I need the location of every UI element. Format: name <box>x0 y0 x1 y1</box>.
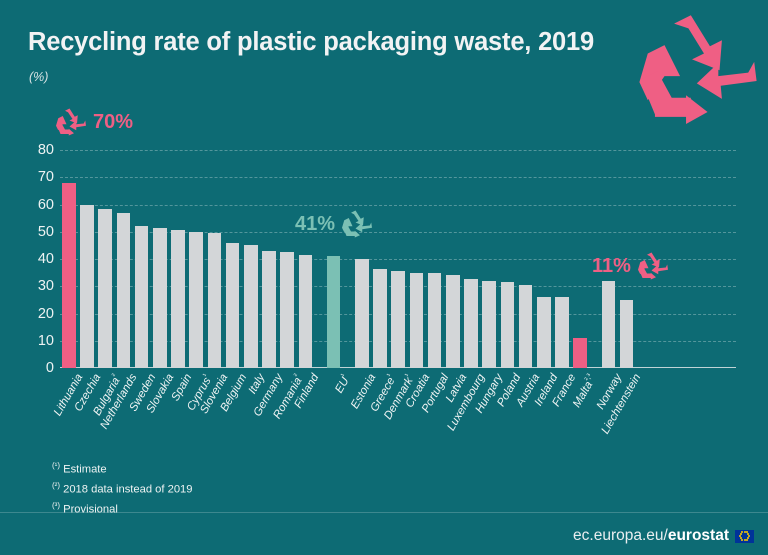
bar-slot <box>537 150 551 368</box>
bar[interactable] <box>244 245 258 368</box>
y-axis-labels: 01020304050607080 <box>10 150 54 368</box>
bar[interactable] <box>327 256 341 368</box>
bar-slot <box>501 150 515 368</box>
bar[interactable] <box>153 228 167 368</box>
bar[interactable] <box>410 273 424 368</box>
bar[interactable] <box>391 271 405 368</box>
footnote: (¹) Estimate <box>52 458 193 478</box>
url-prefix: ec.europa.eu/ <box>573 527 668 544</box>
bar-slot <box>262 150 276 368</box>
bar-slot <box>189 150 203 368</box>
bar[interactable] <box>189 232 203 368</box>
footer-divider <box>0 512 768 513</box>
bar[interactable] <box>80 205 94 369</box>
bar-slot <box>355 150 369 368</box>
bar-slot <box>244 150 258 368</box>
annotation-highest-value: 70% <box>56 108 133 136</box>
bar[interactable] <box>428 273 442 368</box>
bar-slot <box>135 150 149 368</box>
y-tick-label: 50 <box>38 224 54 240</box>
y-tick-label: 10 <box>38 333 54 349</box>
recycle-icon <box>638 252 668 280</box>
bar[interactable] <box>171 230 185 368</box>
bar[interactable] <box>135 226 149 368</box>
annotation-value: 11% <box>592 255 631 278</box>
annotation-eu-value: 41% <box>295 210 372 238</box>
y-tick-label: 20 <box>38 306 54 322</box>
bar-slot <box>519 150 533 368</box>
bar[interactable] <box>464 279 478 368</box>
footnotes: (¹) Estimate(²) 2018 data instead of 201… <box>52 458 193 519</box>
y-tick-label: 30 <box>38 278 54 294</box>
bar[interactable] <box>299 255 313 368</box>
y-tick-label: 60 <box>38 197 54 213</box>
y-tick-label: 40 <box>38 251 54 267</box>
footer-branding[interactable]: ec.europa.eu/eurostat <box>573 527 754 545</box>
x-axis-labels: LithuaniaCzechiaBulgaria²NetherlandsSwed… <box>60 368 752 460</box>
unit-label: (%) <box>29 70 48 84</box>
bar[interactable] <box>602 281 616 368</box>
footnote: (²) 2018 data instead of 2019 <box>52 478 193 498</box>
bar[interactable] <box>519 285 533 368</box>
bar[interactable] <box>446 275 460 368</box>
y-tick-label: 0 <box>46 360 54 376</box>
bar[interactable] <box>482 281 496 368</box>
bar[interactable] <box>208 233 222 368</box>
bar[interactable] <box>501 282 515 368</box>
url-brand: eurostat <box>668 527 729 544</box>
bar-slot <box>226 150 240 368</box>
bar-slot <box>446 150 460 368</box>
bar[interactable] <box>620 300 634 368</box>
bar-slot <box>117 150 131 368</box>
bar-slot <box>208 150 222 368</box>
y-tick-label: 80 <box>38 142 54 158</box>
bar-slot <box>464 150 478 368</box>
bar[interactable] <box>537 297 551 368</box>
bar[interactable] <box>262 251 276 368</box>
bar[interactable] <box>555 297 569 368</box>
bar[interactable] <box>355 259 369 368</box>
bar[interactable] <box>226 243 240 368</box>
x-tick-label: EU¹ <box>330 372 352 395</box>
bar[interactable] <box>62 183 76 368</box>
eu-flag-icon <box>735 530 754 543</box>
bar[interactable] <box>117 213 131 368</box>
recycle-icon <box>638 14 758 124</box>
bar-slot <box>573 150 587 368</box>
infographic-root: Recycling rate of plastic packaging wast… <box>0 0 768 555</box>
annotation-value: 70% <box>93 111 133 134</box>
bar-slot <box>410 150 424 368</box>
bar[interactable] <box>573 338 587 368</box>
bar-slot <box>153 150 167 368</box>
bar-slot <box>98 150 112 368</box>
page-title: Recycling rate of plastic packaging wast… <box>28 28 594 57</box>
annotation-value: 41% <box>295 213 335 236</box>
bar-slot <box>280 150 294 368</box>
bar-slot <box>373 150 387 368</box>
bar-slot <box>299 150 313 368</box>
bar-slot <box>428 150 442 368</box>
y-tick-label: 70 <box>38 169 54 185</box>
annotation-lowest-value: 11% <box>592 252 668 280</box>
bar[interactable] <box>373 269 387 368</box>
bar-slot <box>555 150 569 368</box>
recycle-icon <box>56 108 86 136</box>
bar[interactable] <box>280 252 294 368</box>
bar-slot <box>171 150 185 368</box>
bar-slot <box>62 150 76 368</box>
bar-slot <box>391 150 405 368</box>
bar-slot <box>80 150 94 368</box>
bar-slot <box>327 150 341 368</box>
recycle-icon <box>342 210 372 238</box>
footnote: (³) Provisional <box>52 498 193 518</box>
bar-slot <box>482 150 496 368</box>
bar[interactable] <box>98 209 112 368</box>
eurostat-url[interactable]: ec.europa.eu/eurostat <box>573 527 729 545</box>
